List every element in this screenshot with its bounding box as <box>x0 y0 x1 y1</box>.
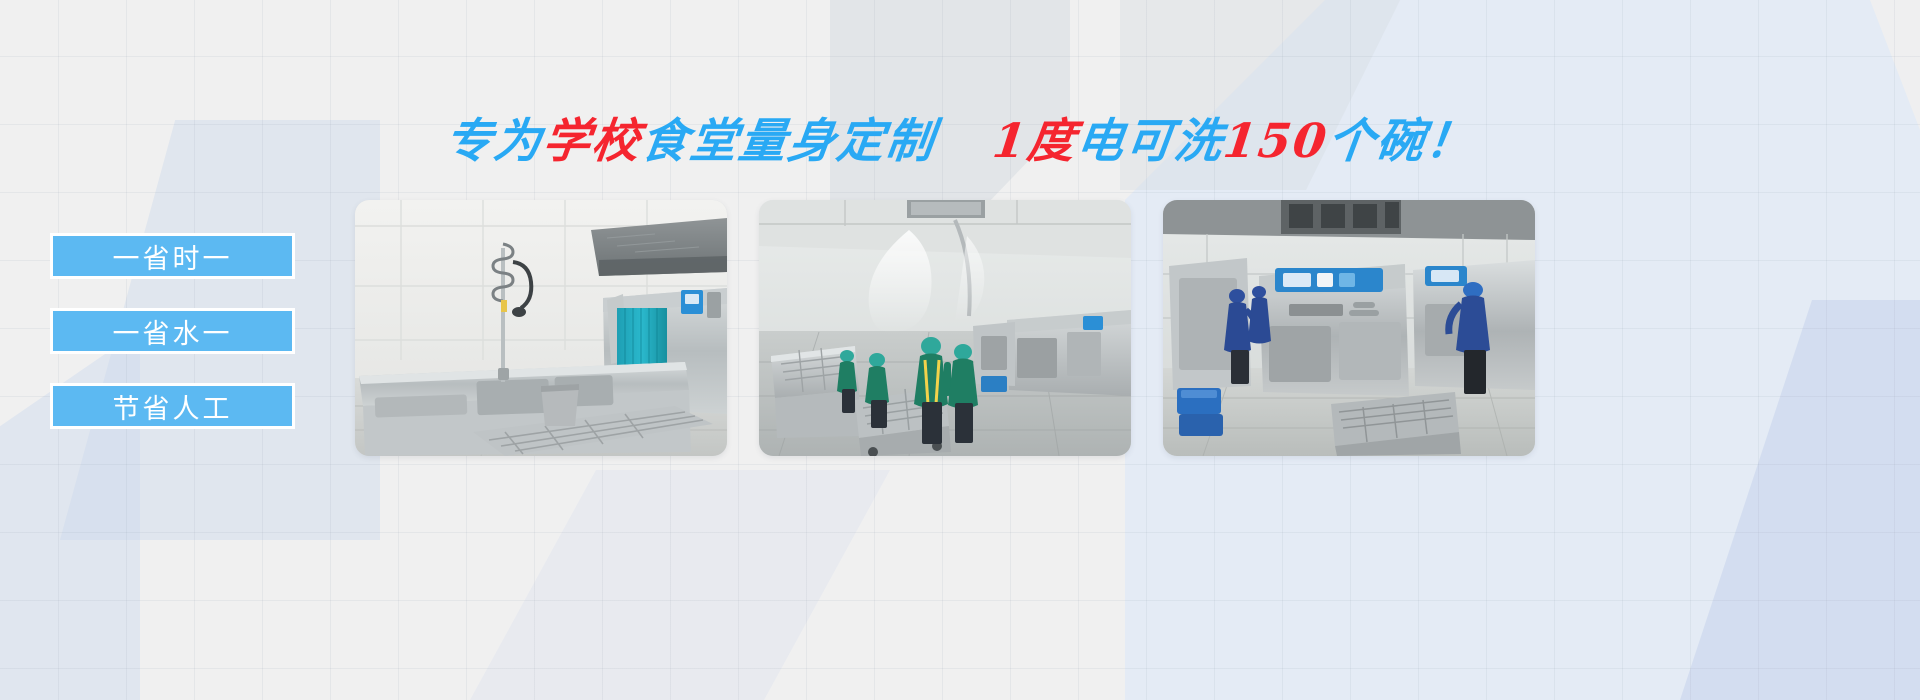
feature-badge-list: 一省时一 一省水一 节省人工 <box>50 233 295 429</box>
feature-badge-labor-saving: 节省人工 <box>50 383 295 429</box>
photo-1-illustration <box>355 200 727 456</box>
photo-staff-operating-dishwashers <box>759 200 1131 456</box>
photo-2-illustration <box>759 200 1131 456</box>
feature-badge-water-saving: 一省水一 <box>50 308 295 354</box>
headline-seg-2c: 150 <box>1220 114 1331 169</box>
promo-banner: 专为学校食堂量身定制 1度电可洗150个碗！ 一省时一 一省水一 节省人工 <box>0 0 1920 700</box>
headline-seg-1c: 食堂量身定制 <box>638 114 939 169</box>
photo-gallery <box>355 200 1535 456</box>
feature-badge-time-saving: 一省时一 <box>50 233 295 279</box>
photo-commercial-dishwasher-with-sink <box>355 200 727 456</box>
headline: 专为学校食堂量身定制 1度电可洗150个碗！ <box>0 104 1920 178</box>
headline-seg-1b: 学校 <box>540 114 645 169</box>
headline-phrase-2: 1度电可洗150个碗！ <box>990 118 1478 165</box>
headline-seg-2d: 个碗！ <box>1325 114 1479 169</box>
headline-seg-2b: 电可洗 <box>1073 114 1227 169</box>
headline-seg-2a: 1度 <box>990 114 1080 169</box>
feature-badge-label: 一省水一 <box>113 312 233 351</box>
photo-3-illustration <box>1163 200 1535 456</box>
headline-seg-1a: 专为 <box>442 114 547 169</box>
headline-phrase-1: 专为学校食堂量身定制 <box>442 118 938 165</box>
feature-badge-label: 一省时一 <box>113 237 233 276</box>
feature-badge-label: 节省人工 <box>113 387 233 426</box>
photo-school-canteen-dishwashing-station <box>1163 200 1535 456</box>
